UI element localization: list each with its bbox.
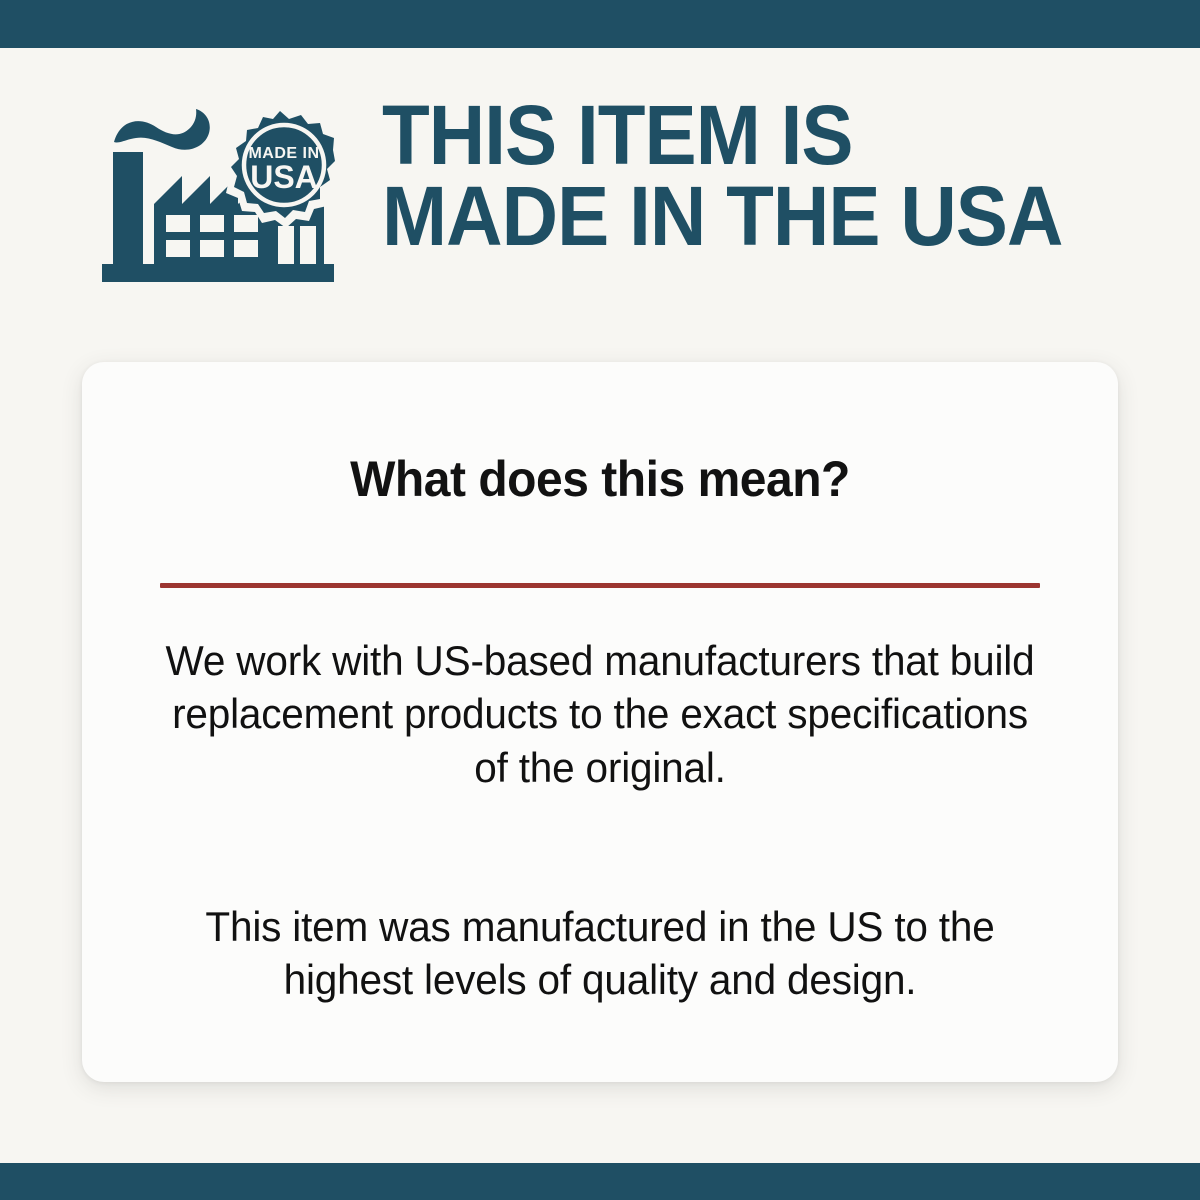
card-body: We work with US-based manufacturers that… xyxy=(142,634,1058,1007)
factory-made-in-usa-icon: MADE IN USA xyxy=(96,100,344,286)
page-title-line-2: MADE IN THE USA xyxy=(382,176,1098,257)
page-title: THIS ITEM IS MADE IN THE USA xyxy=(382,95,1098,256)
bottom-accent-band xyxy=(0,1163,1200,1200)
header: MADE IN USA THIS ITEM IS MADE IN THE USA xyxy=(96,98,1156,288)
page-title-line-1: THIS ITEM IS xyxy=(382,95,1098,176)
card-heading: What does this mean? xyxy=(103,450,1098,508)
page-canvas: MADE IN USA THIS ITEM IS MADE IN THE USA… xyxy=(0,48,1200,1163)
card-paragraph-2: This item was manufactured in the US to … xyxy=(158,900,1042,1007)
info-card: What does this mean? We work with US-bas… xyxy=(82,362,1118,1082)
top-accent-band xyxy=(0,0,1200,48)
card-divider xyxy=(160,583,1040,588)
card-paragraph-1: We work with US-based manufacturers that… xyxy=(158,634,1042,794)
badge-line2: USA xyxy=(250,159,318,195)
